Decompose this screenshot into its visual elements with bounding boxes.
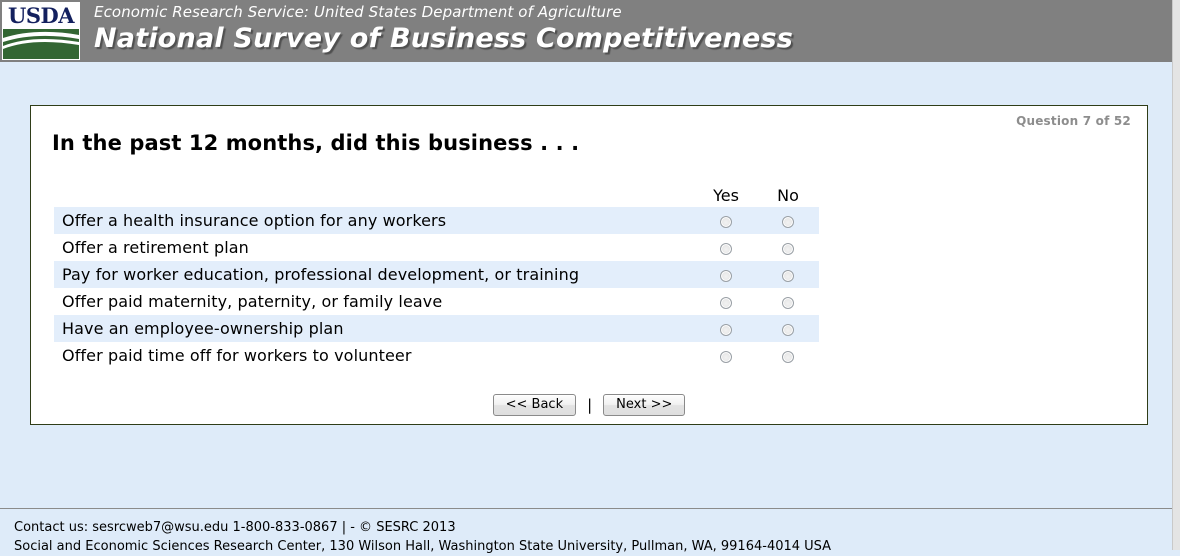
- question-matrix-table: Yes No Offer a health insurance option f…: [54, 176, 819, 369]
- back-button[interactable]: << Back: [493, 394, 576, 416]
- table-row: Offer paid maternity, paternity, or fami…: [54, 288, 819, 315]
- row-label: Offer paid maternity, paternity, or fami…: [54, 288, 695, 315]
- row-yes-cell[interactable]: [695, 342, 757, 369]
- table-row: Offer paid time off for workers to volun…: [54, 342, 819, 369]
- site-header: USDA Economic Research Service: United S…: [0, 0, 1172, 62]
- radio-no[interactable]: [782, 324, 794, 336]
- matrix-label-header: [54, 176, 695, 207]
- page-body: Question 7 of 52 In the past 12 months, …: [0, 68, 1172, 508]
- radio-yes[interactable]: [720, 351, 732, 363]
- row-yes-cell[interactable]: [695, 207, 757, 234]
- question-counter: Question 7 of 52: [1016, 114, 1131, 128]
- table-row: Offer a retirement plan: [54, 234, 819, 261]
- row-yes-cell[interactable]: [695, 315, 757, 342]
- radio-no[interactable]: [782, 243, 794, 255]
- radio-no[interactable]: [782, 351, 794, 363]
- row-label: Pay for worker education, professional d…: [54, 261, 695, 288]
- row-no-cell[interactable]: [757, 342, 819, 369]
- survey-panel: Question 7 of 52 In the past 12 months, …: [30, 105, 1148, 425]
- row-no-cell[interactable]: [757, 315, 819, 342]
- radio-yes[interactable]: [720, 297, 732, 309]
- table-row: Pay for worker education, professional d…: [54, 261, 819, 288]
- next-button[interactable]: Next >>: [603, 394, 685, 416]
- row-yes-cell[interactable]: [695, 261, 757, 288]
- matrix-yes-header: Yes: [695, 176, 757, 207]
- matrix-body: Offer a health insurance option for any …: [54, 207, 819, 369]
- radio-no[interactable]: [782, 297, 794, 309]
- usda-landscape-icon: [3, 29, 79, 59]
- matrix-header-row: Yes No: [54, 176, 819, 207]
- nav-separator: |: [587, 398, 592, 413]
- row-label: Offer paid time off for workers to volun…: [54, 342, 695, 369]
- row-no-cell[interactable]: [757, 261, 819, 288]
- row-label: Have an employee-ownership plan: [54, 315, 695, 342]
- radio-no[interactable]: [782, 216, 794, 228]
- radio-no[interactable]: [782, 270, 794, 282]
- survey-title: National Survey of Business Competitiven…: [94, 22, 793, 56]
- navigation-row: << Back | Next >>: [31, 394, 1147, 416]
- footer-address-line: Social and Economic Sciences Research Ce…: [14, 537, 1172, 556]
- radio-yes[interactable]: [720, 324, 732, 336]
- row-label: Offer a health insurance option for any …: [54, 207, 695, 234]
- site-footer: Contact us: sesrcweb7@wsu.edu 1-800-833-…: [0, 509, 1172, 550]
- page-title: In the past 12 months, did this business…: [52, 131, 579, 155]
- row-yes-cell[interactable]: [695, 288, 757, 315]
- usda-logo: USDA: [2, 2, 80, 60]
- row-no-cell[interactable]: [757, 234, 819, 261]
- table-row: Offer a health insurance option for any …: [54, 207, 819, 234]
- header-text-block: Economic Research Service: United States…: [80, 0, 793, 62]
- row-no-cell[interactable]: [757, 288, 819, 315]
- row-label: Offer a retirement plan: [54, 234, 695, 261]
- table-row: Have an employee-ownership plan: [54, 315, 819, 342]
- page-scrollbar[interactable]: [1172, 0, 1180, 550]
- row-yes-cell[interactable]: [695, 234, 757, 261]
- radio-yes[interactable]: [720, 216, 732, 228]
- matrix-no-header: No: [757, 176, 819, 207]
- usda-wordmark: USDA: [3, 4, 79, 28]
- radio-yes[interactable]: [720, 270, 732, 282]
- footer-contact-line: Contact us: sesrcweb7@wsu.edu 1-800-833-…: [14, 518, 1172, 537]
- agency-line: Economic Research Service: United States…: [94, 3, 793, 22]
- radio-yes[interactable]: [720, 243, 732, 255]
- row-no-cell[interactable]: [757, 207, 819, 234]
